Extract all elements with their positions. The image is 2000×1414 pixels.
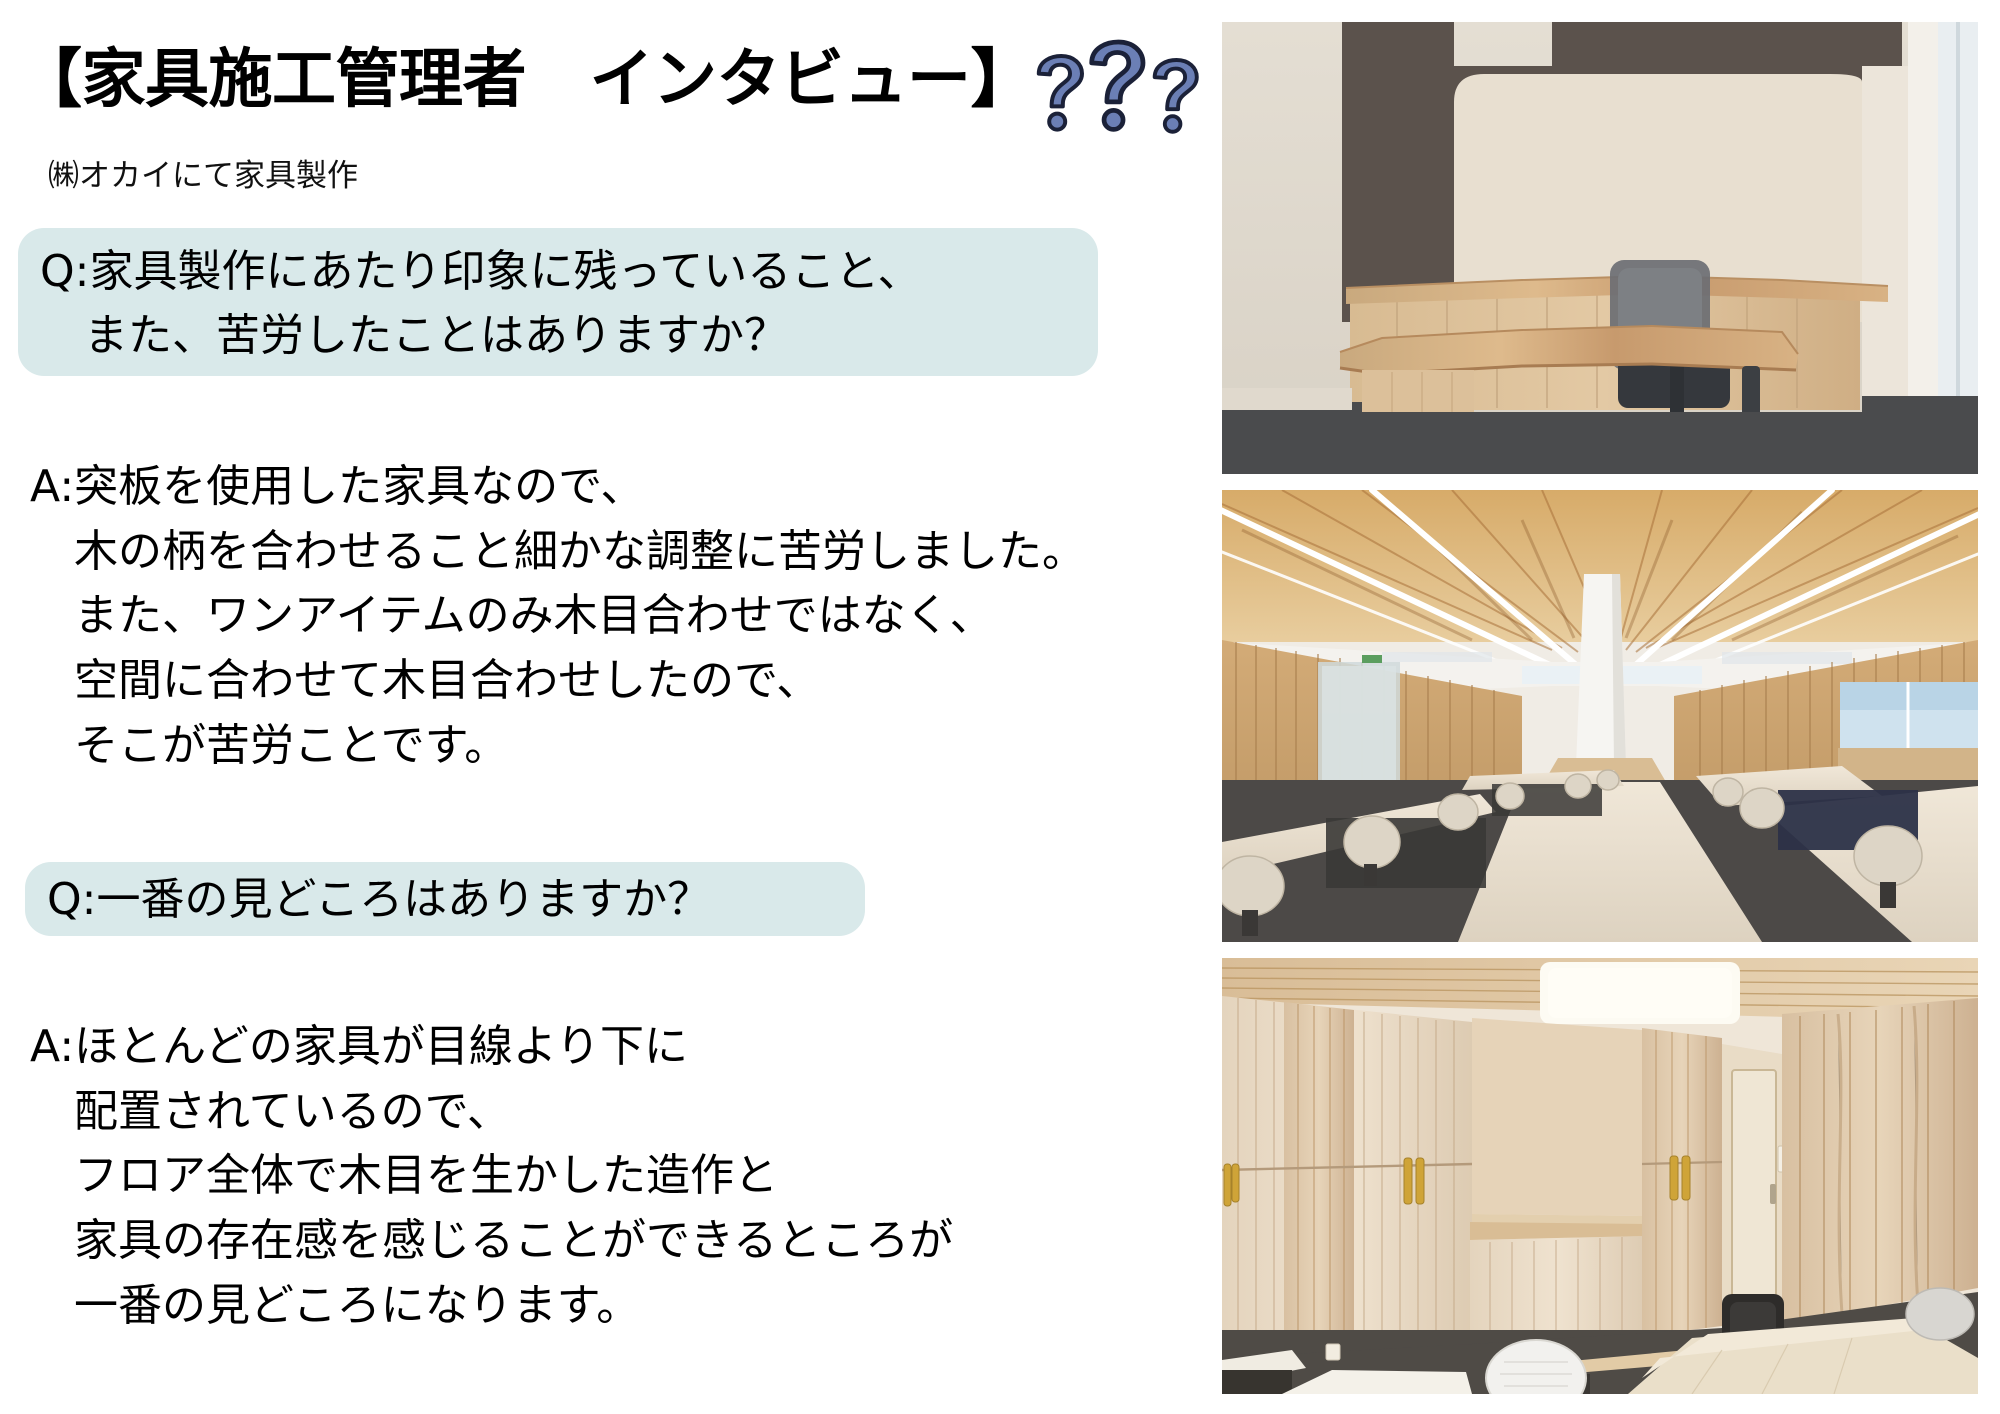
question-1-line-1: Q:家具製作にあたり印象に残っていること、 bbox=[40, 240, 1076, 304]
answer-block-1: A:突板を使用した家具なので、 木の柄を合わせること細かな調整に苦労しました。 … bbox=[30, 455, 1086, 778]
left-text-column: 【家具施工管理者 インタビュー】 bbox=[0, 0, 1215, 1414]
answer-1-line-4: 空間に合わせて木目合わせしたので、 bbox=[30, 649, 1086, 714]
answer-1-line-1: A:突板を使用した家具なので、 bbox=[30, 455, 1086, 520]
photo-open-office-wood-slat-ceiling bbox=[1222, 490, 1978, 942]
answer-2-line-1: A:ほとんどの家具が目線より下に bbox=[30, 1015, 953, 1080]
answer-2-line-4: 家具の存在感を感じることができるところが bbox=[30, 1209, 953, 1274]
photo-wood-panel-storage-wall-office bbox=[1222, 958, 1978, 1394]
answer-1-line-5: そこが苦労ことです。 bbox=[30, 714, 1086, 779]
question-box-1: Q:家具製作にあたり印象に残っていること、 また、苦労したことはありますか？ bbox=[18, 228, 1098, 376]
question-2-line-1: Q:一番の見どころはありますか？ bbox=[47, 868, 843, 932]
page-subtitle: ㈱オカイにて家具製作 bbox=[48, 150, 358, 195]
slide-root: 【家具施工管理者 インタビュー】 bbox=[0, 0, 2000, 1414]
answer-block-2: A:ほとんどの家具が目線より下に 配置されているので、 フロア全体で木目を生かし… bbox=[30, 1015, 953, 1338]
title-row: 【家具施工管理者 インタビュー】 bbox=[18, 48, 1210, 144]
answer-1-line-2: 木の柄を合わせること細かな調整に苦労しました。 bbox=[30, 520, 1086, 585]
answer-2-line-2: 配置されているので、 bbox=[30, 1080, 953, 1145]
photo-column bbox=[1222, 22, 1978, 1394]
answer-1-line-3: また、ワンアイテムのみ木目合わせではなく、 bbox=[30, 584, 1086, 649]
photo-executive-office-live-edge-desk bbox=[1222, 22, 1978, 474]
answer-2-line-5: 一番の見どころになります。 bbox=[30, 1274, 953, 1339]
question-1-line-2: また、苦労したことはありますか？ bbox=[40, 304, 1076, 368]
answer-2-line-3: フロア全体で木目を生かした造作と bbox=[30, 1144, 953, 1209]
question-box-2: Q:一番の見どころはありますか？ bbox=[25, 862, 865, 936]
page-title: 【家具施工管理者 インタビュー】 bbox=[18, 48, 1034, 112]
question-marks-decoration-icon bbox=[1030, 48, 1210, 144]
